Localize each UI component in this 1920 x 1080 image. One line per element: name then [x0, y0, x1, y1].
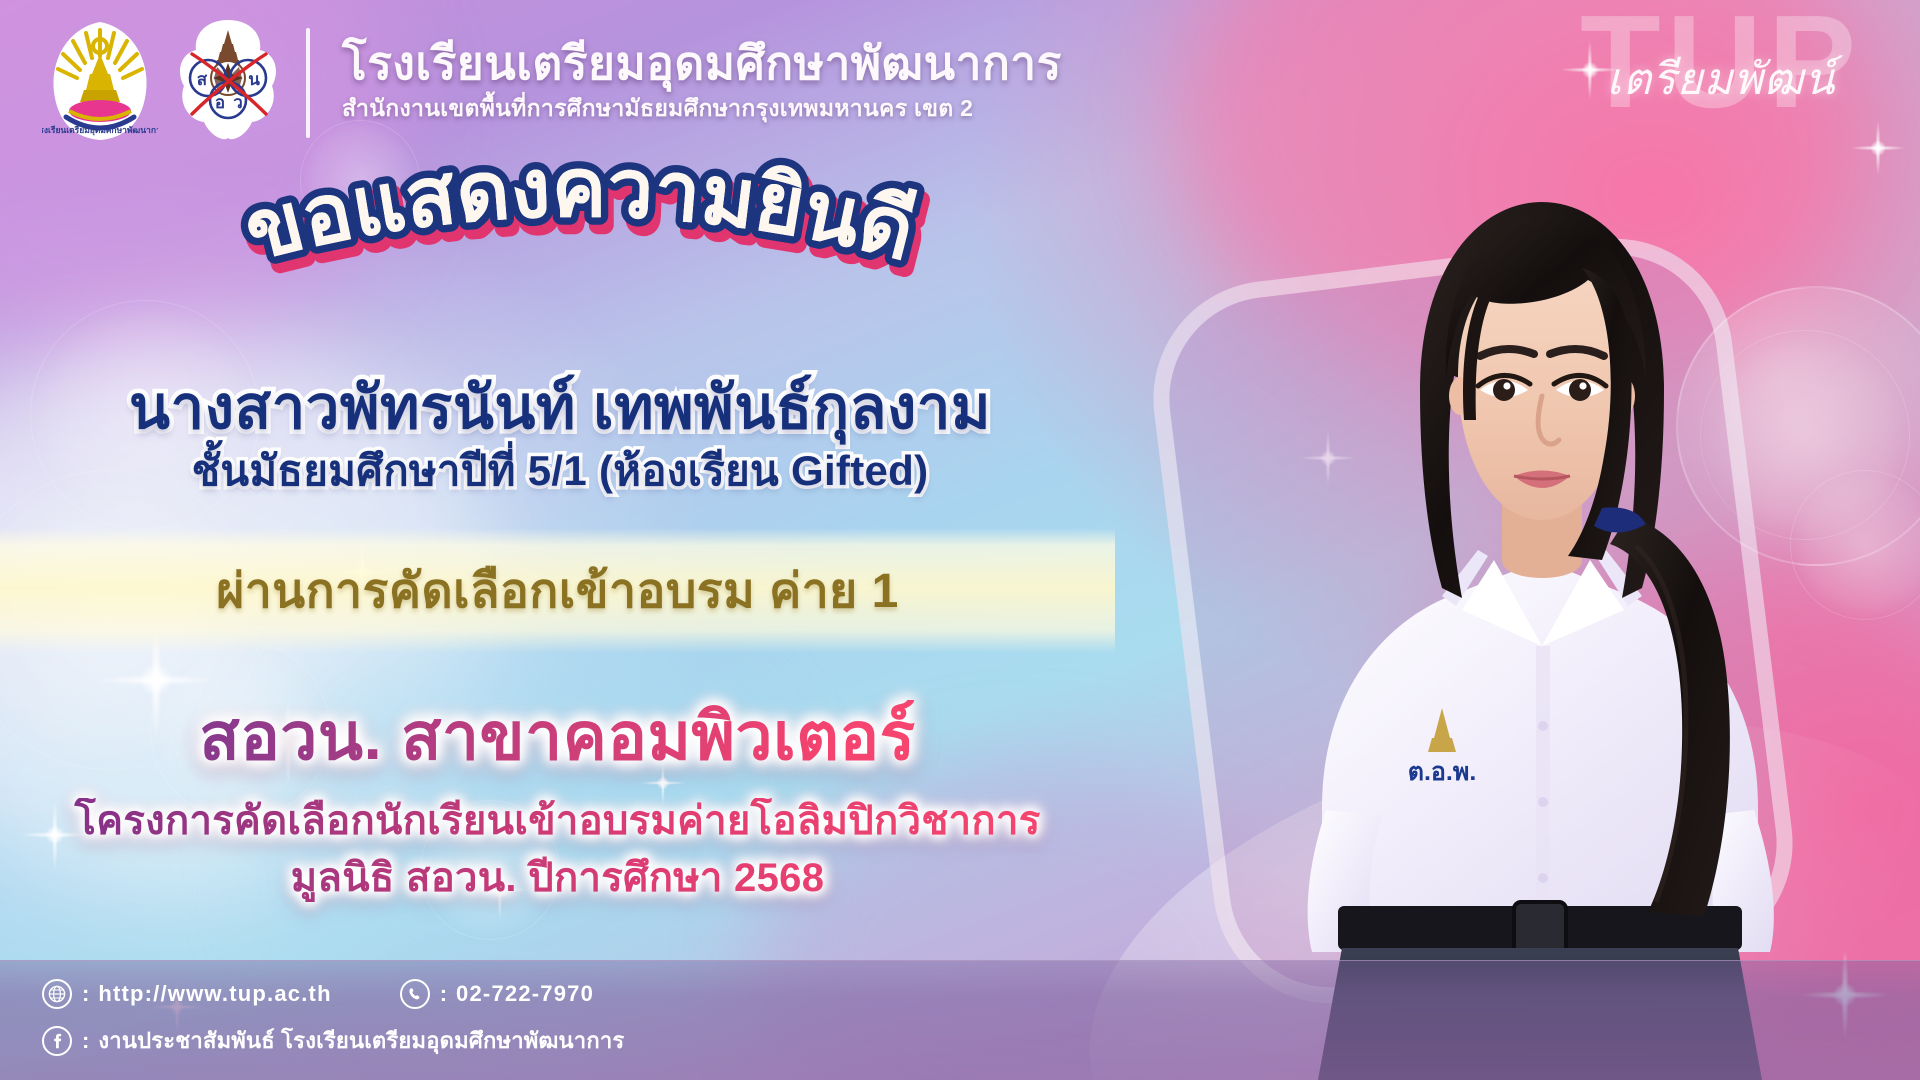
globe-icon	[42, 979, 72, 1009]
school-name: โรงเรียนเตรียมอุดมศึกษาพัฒนาการ	[342, 38, 1062, 90]
student-photo-area: ต.อ.พ.	[1090, 90, 1920, 1080]
project-line-2: มูลนิธิ สอวน. ปีการศึกษา 2568	[0, 855, 1115, 902]
facebook-label: :	[82, 1028, 89, 1054]
phra-kiao-crest-logo: โรงเรียนเตรียมอุดมศึกษาพัฒนาการ	[42, 16, 158, 149]
svg-text:น: น	[248, 70, 260, 89]
student-info-block: นางสาวพัทรนันท์ เทพพันธ์กุลงาม ชั้นมัธยม…	[0, 375, 1120, 495]
school-office-name: สำนักงานเขตพื้นที่การศึกษามัธยมศึกษากรุง…	[342, 91, 1062, 127]
posn-atom-logo: ส น อ ว	[174, 16, 282, 149]
footer-bar: : http://www.tup.ac.th : 02-722-7970 : ง…	[0, 960, 1920, 1080]
uniform-badge-text: ต.อ.พ.	[1408, 758, 1477, 786]
facebook-icon	[42, 1026, 72, 1056]
subject-title: สอวน. สาขาคอมพิวเตอร์	[0, 700, 1115, 774]
svg-text:อ: อ	[215, 93, 225, 112]
phone-icon	[400, 979, 430, 1009]
footer-contact-row-2: : งานประชาสัมพันธ์ โรงเรียนเตรียมอุดมศึก…	[42, 1023, 624, 1058]
project-line-1: โครงการคัดเลือกนักเรียนเข้าอบรมค่ายโอลิม…	[0, 798, 1115, 845]
svg-text:ส: ส	[197, 70, 208, 89]
achievement-band: ผ่านการคัดเลือกเข้าอบรม ค่าย 1	[0, 528, 1115, 653]
footer-contact-row-1: : http://www.tup.ac.th : 02-722-7970	[42, 979, 594, 1009]
header-bar: โรงเรียนเตรียมอุดมศึกษาพัฒนาการ	[0, 0, 1920, 160]
header-divider	[306, 28, 310, 138]
banner-canvas: TUP เตรียมพัฒน์	[0, 0, 1920, 1080]
phone-label: :	[440, 981, 447, 1007]
facebook-page-name[interactable]: งานประชาสัมพันธ์ โรงเรียนเตรียมอุดมศึกษา…	[98, 1023, 624, 1058]
phone-number[interactable]: 02-722-7970	[456, 981, 594, 1007]
website-label: :	[82, 981, 89, 1007]
achievement-band-text: ผ่านการคัดเลือกเข้าอบรม ค่าย 1	[0, 528, 1115, 653]
student-portrait: ต.อ.พ.	[1090, 90, 1920, 1080]
svg-text:ว: ว	[233, 93, 243, 112]
congrats-text: ขอแสดงความยินดี	[236, 150, 924, 278]
student-name: นางสาวพัทรนันท์ เทพพันธ์กุลงาม	[0, 375, 1120, 441]
student-class: ชั้นมัธยมศึกษาปีที่ 5/1 (ห้องเรียน Gifte…	[0, 447, 1120, 495]
congratulations-headline: ขอแสดงความยินดี ขอแสดงความยินดี ขอแสดงคว…	[110, 150, 1050, 320]
svg-text:ขอแสดงความยินดี: ขอแสดงความยินดี	[236, 150, 924, 278]
website-url[interactable]: http://www.tup.ac.th	[98, 981, 331, 1007]
achievement-block: สอวน. สาขาคอมพิวเตอร์ โครงการคัดเลือกนัก…	[0, 700, 1115, 902]
svg-text:โรงเรียนเตรียมอุดมศึกษาพัฒนากา: โรงเรียนเตรียมอุดมศึกษาพัฒนาการ	[42, 125, 158, 136]
